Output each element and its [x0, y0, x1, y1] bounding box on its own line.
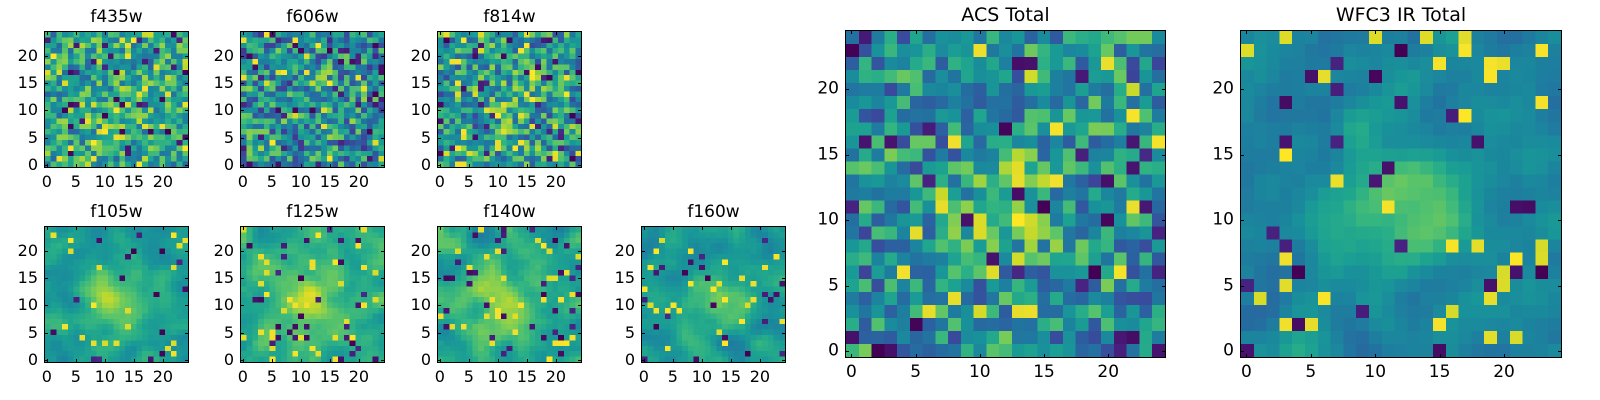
ytick-acs-total-20: [845, 89, 849, 90]
heatmap-canvas-f814w: [438, 32, 581, 167]
ytick-right-f435w-5: [185, 138, 189, 139]
xtick-top-f125w-0: [243, 226, 244, 230]
xtick-wfc3-ir-total-20: [1504, 354, 1505, 358]
yticklabel-f125w-15: 15: [190, 269, 234, 287]
xtick-top-f105w-10: [105, 226, 106, 230]
xtick-top-f140w-0: [440, 226, 441, 230]
xticklabel-f105w-5: 5: [71, 368, 81, 386]
yticklabel-f125w-0: 0: [190, 351, 234, 369]
ytick-right-f435w-0: [185, 165, 189, 166]
ytick-acs-total-5: [845, 286, 849, 287]
yticklabel-f435w-10: 10: [0, 101, 38, 119]
xtick-top-f814w-20: [556, 31, 557, 35]
xticklabel-f435w-20: 20: [153, 173, 173, 191]
panel-title-f814w: f814w: [437, 7, 582, 27]
panel-title-f435w: f435w: [44, 7, 189, 27]
heatmap-f140w: [437, 226, 582, 363]
yticklabel-f160w-15: 15: [591, 269, 635, 287]
yticklabel-acs-total-5: 5: [795, 276, 839, 295]
ytick-f435w-0: [44, 165, 48, 166]
yticklabel-f160w-0: 0: [591, 351, 635, 369]
ytick-f125w-0: [240, 360, 244, 361]
ytick-f160w-5: [641, 333, 645, 334]
xticklabel-f435w-15: 15: [124, 173, 144, 191]
xtick-top-acs-total-15: [1044, 30, 1045, 34]
xtick-f105w-20: [163, 359, 164, 363]
ytick-right-f814w-10: [578, 110, 582, 111]
yticklabel-f125w-5: 5: [190, 324, 234, 342]
xtick-top-wfc3-ir-total-5: [1311, 30, 1312, 34]
heatmap-canvas-f160w: [642, 227, 785, 362]
ytick-f814w-15: [437, 83, 441, 84]
ytick-f105w-5: [44, 333, 48, 334]
ytick-right-wfc3-ir-total-10: [1558, 220, 1562, 221]
ytick-right-f435w-10: [185, 110, 189, 111]
yticklabel-f140w-0: 0: [387, 351, 431, 369]
ytick-f105w-0: [44, 360, 48, 361]
xticklabel-f814w-20: 20: [546, 173, 566, 191]
xticklabel-f160w-20: 20: [750, 368, 770, 386]
ytick-f125w-15: [240, 278, 244, 279]
yticklabel-f606w-5: 5: [190, 129, 234, 147]
ytick-f160w-10: [641, 305, 645, 306]
ytick-right-f125w-20: [381, 251, 385, 252]
ytick-f160w-15: [641, 278, 645, 279]
yticklabel-f606w-10: 10: [190, 101, 234, 119]
xticklabel-f125w-10: 10: [291, 368, 311, 386]
xtick-acs-total-5: [916, 354, 917, 358]
xticklabel-f160w-15: 15: [721, 368, 741, 386]
ytick-right-f140w-20: [578, 251, 582, 252]
panel-f105w: f105w0510152005101520: [44, 226, 189, 363]
panel-title-f105w: f105w: [44, 202, 189, 222]
xticklabel-f140w-0: 0: [435, 368, 445, 386]
ytick-right-f140w-0: [578, 360, 582, 361]
ytick-acs-total-0: [845, 351, 849, 352]
xtick-f125w-15: [330, 359, 331, 363]
yticklabel-f814w-5: 5: [387, 129, 431, 147]
heatmap-f105w: [44, 226, 189, 363]
yticklabel-f435w-0: 0: [0, 156, 38, 174]
ytick-right-f140w-10: [578, 305, 582, 306]
ytick-right-f814w-20: [578, 56, 582, 57]
ytick-right-f606w-15: [381, 83, 385, 84]
xtick-f160w-15: [731, 359, 732, 363]
xticklabel-f814w-5: 5: [464, 173, 474, 191]
xtick-top-f160w-10: [702, 226, 703, 230]
yticklabel-f160w-5: 5: [591, 324, 635, 342]
xtick-f606w-5: [272, 164, 273, 168]
heatmap-canvas-acs-total: [846, 31, 1165, 357]
panel-title-f140w: f140w: [437, 202, 582, 222]
xticklabel-f606w-5: 5: [267, 173, 277, 191]
xtick-top-f160w-5: [673, 226, 674, 230]
xtick-top-f105w-15: [134, 226, 135, 230]
xtick-top-acs-total-10: [980, 30, 981, 34]
ytick-f814w-20: [437, 56, 441, 57]
panel-f435w: f435w0510152005101520: [44, 31, 189, 168]
yticklabel-f105w-5: 5: [0, 324, 38, 342]
xticklabel-f140w-10: 10: [488, 368, 508, 386]
yticklabel-acs-total-20: 20: [795, 80, 839, 99]
ytick-f606w-0: [240, 165, 244, 166]
ytick-f606w-20: [240, 56, 244, 57]
heatmap-canvas-f435w: [45, 32, 188, 167]
ytick-f125w-10: [240, 305, 244, 306]
xtick-acs-total-10: [980, 354, 981, 358]
ytick-acs-total-15: [845, 155, 849, 156]
xtick-f140w-20: [556, 359, 557, 363]
yticklabel-f140w-20: 20: [387, 242, 431, 260]
xtick-top-acs-total-5: [916, 30, 917, 34]
ytick-f435w-20: [44, 56, 48, 57]
xtick-top-f160w-15: [731, 226, 732, 230]
xtick-top-f814w-10: [498, 31, 499, 35]
ytick-right-f105w-20: [185, 251, 189, 252]
ytick-wfc3-ir-total-15: [1240, 155, 1244, 156]
xtick-f160w-20: [760, 359, 761, 363]
ytick-wfc3-ir-total-10: [1240, 220, 1244, 221]
xtick-f125w-20: [359, 359, 360, 363]
ytick-f606w-5: [240, 138, 244, 139]
ytick-f105w-20: [44, 251, 48, 252]
ytick-f140w-10: [437, 305, 441, 306]
xticklabel-f105w-10: 10: [95, 368, 115, 386]
xtick-f606w-20: [359, 164, 360, 168]
yticklabel-f814w-10: 10: [387, 101, 431, 119]
xtick-top-f435w-5: [76, 31, 77, 35]
yticklabel-wfc3-ir-total-15: 15: [1190, 145, 1234, 164]
xticklabel-f105w-20: 20: [153, 368, 173, 386]
ytick-right-f160w-5: [782, 333, 786, 334]
ytick-f814w-0: [437, 165, 441, 166]
xticklabel-f435w-5: 5: [71, 173, 81, 191]
xtick-top-f606w-15: [330, 31, 331, 35]
xtick-f814w-5: [469, 164, 470, 168]
xticklabel-acs-total-5: 5: [910, 363, 921, 382]
panel-wfc3-ir-total: WFC3 IR Total0510152005101520: [1240, 30, 1562, 358]
heatmap-canvas-wfc3-ir-total: [1241, 31, 1561, 357]
xticklabel-acs-total-15: 15: [1033, 363, 1055, 382]
xticklabel-f814w-0: 0: [435, 173, 445, 191]
panel-title-acs-total: ACS Total: [845, 4, 1166, 26]
figure-canvas: f435w0510152005101520f606w05101520051015…: [0, 0, 1600, 400]
ytick-right-f125w-5: [381, 333, 385, 334]
xticklabel-f814w-15: 15: [517, 173, 537, 191]
yticklabel-wfc3-ir-total-5: 5: [1190, 276, 1234, 295]
ytick-f606w-15: [240, 83, 244, 84]
yticklabel-f140w-10: 10: [387, 296, 431, 314]
xticklabel-f105w-0: 0: [42, 368, 52, 386]
yticklabel-f140w-15: 15: [387, 269, 431, 287]
panel-f140w: f140w0510152005101520: [437, 226, 582, 363]
ytick-right-f814w-5: [578, 138, 582, 139]
ytick-right-f125w-15: [381, 278, 385, 279]
xticklabel-f140w-20: 20: [546, 368, 566, 386]
xtick-top-f125w-15: [330, 226, 331, 230]
yticklabel-f814w-20: 20: [387, 47, 431, 65]
heatmap-canvas-f606w: [241, 32, 384, 167]
xtick-top-acs-total-20: [1108, 30, 1109, 34]
heatmap-canvas-f125w: [241, 227, 384, 362]
ytick-right-acs-total-20: [1162, 89, 1166, 90]
ytick-f435w-15: [44, 83, 48, 84]
ytick-right-f814w-15: [578, 83, 582, 84]
xtick-f814w-10: [498, 164, 499, 168]
xticklabel-wfc3-ir-total-20: 20: [1493, 363, 1515, 382]
yticklabel-f105w-15: 15: [0, 269, 38, 287]
xtick-top-wfc3-ir-total-0: [1246, 30, 1247, 34]
ytick-right-f140w-15: [578, 278, 582, 279]
xtick-top-f814w-5: [469, 31, 470, 35]
ytick-right-f606w-0: [381, 165, 385, 166]
xtick-f435w-15: [134, 164, 135, 168]
xtick-top-f140w-20: [556, 226, 557, 230]
xtick-top-f435w-10: [105, 31, 106, 35]
panel-f160w: f160w0510152005101520: [641, 226, 786, 363]
xticklabel-acs-total-20: 20: [1097, 363, 1119, 382]
ytick-right-f606w-10: [381, 110, 385, 111]
yticklabel-f105w-20: 20: [0, 242, 38, 260]
xtick-f105w-10: [105, 359, 106, 363]
xtick-top-f125w-20: [359, 226, 360, 230]
yticklabel-f606w-20: 20: [190, 47, 234, 65]
ytick-right-wfc3-ir-total-15: [1558, 155, 1562, 156]
ytick-f125w-5: [240, 333, 244, 334]
xtick-acs-total-0: [851, 354, 852, 358]
yticklabel-f814w-0: 0: [387, 156, 431, 174]
xtick-wfc3-ir-total-5: [1311, 354, 1312, 358]
xtick-wfc3-ir-total-0: [1246, 354, 1247, 358]
xtick-top-wfc3-ir-total-20: [1504, 30, 1505, 34]
xtick-f606w-10: [301, 164, 302, 168]
yticklabel-f606w-15: 15: [190, 74, 234, 92]
ytick-wfc3-ir-total-0: [1240, 351, 1244, 352]
xticklabel-f125w-15: 15: [320, 368, 340, 386]
yticklabel-f435w-5: 5: [0, 129, 38, 147]
ytick-right-f606w-20: [381, 56, 385, 57]
yticklabel-acs-total-0: 0: [795, 342, 839, 361]
yticklabel-f160w-10: 10: [591, 296, 635, 314]
heatmap-canvas-f105w: [45, 227, 188, 362]
yticklabel-f105w-0: 0: [0, 351, 38, 369]
xtick-f105w-15: [134, 359, 135, 363]
xtick-top-f814w-0: [440, 31, 441, 35]
heatmap-canvas-f140w: [438, 227, 581, 362]
xtick-top-f160w-20: [760, 226, 761, 230]
xtick-top-f105w-0: [47, 226, 48, 230]
xtick-top-wfc3-ir-total-10: [1375, 30, 1376, 34]
xtick-top-f606w-0: [243, 31, 244, 35]
ytick-right-f105w-15: [185, 278, 189, 279]
xtick-top-f140w-5: [469, 226, 470, 230]
xtick-top-f606w-10: [301, 31, 302, 35]
panel-f814w: f814w0510152005101520: [437, 31, 582, 168]
xtick-top-f606w-5: [272, 31, 273, 35]
xticklabel-f435w-0: 0: [42, 173, 52, 191]
ytick-f606w-10: [240, 110, 244, 111]
ytick-right-f105w-0: [185, 360, 189, 361]
ytick-f140w-0: [437, 360, 441, 361]
xtick-f435w-20: [163, 164, 164, 168]
xtick-f814w-15: [527, 164, 528, 168]
yticklabel-wfc3-ir-total-10: 10: [1190, 211, 1234, 230]
yticklabel-f435w-20: 20: [0, 47, 38, 65]
heatmap-f606w: [240, 31, 385, 168]
xticklabel-wfc3-ir-total-15: 15: [1429, 363, 1451, 382]
ytick-right-acs-total-10: [1162, 220, 1166, 221]
ytick-acs-total-10: [845, 220, 849, 221]
ytick-right-f606w-5: [381, 138, 385, 139]
ytick-f140w-20: [437, 251, 441, 252]
ytick-f814w-5: [437, 138, 441, 139]
xticklabel-f160w-0: 0: [639, 368, 649, 386]
ytick-f105w-10: [44, 305, 48, 306]
panel-title-f125w: f125w: [240, 202, 385, 222]
xtick-f125w-5: [272, 359, 273, 363]
ytick-f435w-5: [44, 138, 48, 139]
ytick-f140w-15: [437, 278, 441, 279]
panel-f606w: f606w0510152005101520: [240, 31, 385, 168]
yticklabel-f814w-15: 15: [387, 74, 431, 92]
ytick-right-f160w-10: [782, 305, 786, 306]
ytick-right-f435w-20: [185, 56, 189, 57]
xticklabel-f435w-10: 10: [95, 173, 115, 191]
ytick-f160w-0: [641, 360, 645, 361]
panel-f125w: f125w0510152005101520: [240, 226, 385, 363]
xtick-top-wfc3-ir-total-15: [1440, 30, 1441, 34]
ytick-f160w-20: [641, 251, 645, 252]
xtick-acs-total-15: [1044, 354, 1045, 358]
xtick-f435w-10: [105, 164, 106, 168]
ytick-right-f160w-0: [782, 360, 786, 361]
xticklabel-f814w-10: 10: [488, 173, 508, 191]
heatmap-wfc3-ir-total: [1240, 30, 1562, 358]
panel-title-wfc3-ir-total: WFC3 IR Total: [1240, 4, 1562, 26]
ytick-right-f105w-5: [185, 333, 189, 334]
xtick-top-f105w-5: [76, 226, 77, 230]
xticklabel-acs-total-10: 10: [969, 363, 991, 382]
xticklabel-f125w-20: 20: [349, 368, 369, 386]
ytick-right-f105w-10: [185, 305, 189, 306]
xtick-wfc3-ir-total-10: [1375, 354, 1376, 358]
xtick-top-f435w-20: [163, 31, 164, 35]
heatmap-f160w: [641, 226, 786, 363]
ytick-right-f814w-0: [578, 165, 582, 166]
yticklabel-wfc3-ir-total-0: 0: [1190, 342, 1234, 361]
xticklabel-f125w-0: 0: [238, 368, 248, 386]
ytick-right-wfc3-ir-total-5: [1558, 286, 1562, 287]
ytick-f435w-10: [44, 110, 48, 111]
ytick-right-wfc3-ir-total-20: [1558, 89, 1562, 90]
xtick-f160w-10: [702, 359, 703, 363]
yticklabel-f140w-5: 5: [387, 324, 431, 342]
ytick-right-f160w-15: [782, 278, 786, 279]
yticklabel-wfc3-ir-total-20: 20: [1190, 80, 1234, 99]
yticklabel-f125w-20: 20: [190, 242, 234, 260]
heatmap-f435w: [44, 31, 189, 168]
xticklabel-f125w-5: 5: [267, 368, 277, 386]
ytick-right-f125w-10: [381, 305, 385, 306]
xtick-top-acs-total-0: [851, 30, 852, 34]
xtick-f140w-10: [498, 359, 499, 363]
xticklabel-f160w-5: 5: [668, 368, 678, 386]
heatmap-f125w: [240, 226, 385, 363]
xticklabel-f140w-15: 15: [517, 368, 537, 386]
panel-title-f606w: f606w: [240, 7, 385, 27]
ytick-right-acs-total-15: [1162, 155, 1166, 156]
ytick-right-f435w-15: [185, 83, 189, 84]
ytick-right-wfc3-ir-total-0: [1558, 351, 1562, 352]
ytick-f140w-5: [437, 333, 441, 334]
xticklabel-wfc3-ir-total-5: 5: [1305, 363, 1316, 382]
xtick-f606w-15: [330, 164, 331, 168]
xtick-f435w-5: [76, 164, 77, 168]
ytick-f105w-15: [44, 278, 48, 279]
xtick-wfc3-ir-total-15: [1440, 354, 1441, 358]
ytick-right-f160w-20: [782, 251, 786, 252]
xtick-top-f125w-5: [272, 226, 273, 230]
xtick-top-f160w-0: [644, 226, 645, 230]
xtick-top-f125w-10: [301, 226, 302, 230]
panel-acs-total: ACS Total0510152005101520: [845, 30, 1166, 358]
yticklabel-f105w-10: 10: [0, 296, 38, 314]
xtick-top-f435w-15: [134, 31, 135, 35]
yticklabel-f125w-10: 10: [190, 296, 234, 314]
xtick-acs-total-20: [1108, 354, 1109, 358]
xtick-top-f435w-0: [47, 31, 48, 35]
xticklabel-f606w-10: 10: [291, 173, 311, 191]
xticklabel-wfc3-ir-total-0: 0: [1241, 363, 1252, 382]
xtick-f125w-10: [301, 359, 302, 363]
yticklabel-f606w-0: 0: [190, 156, 234, 174]
xtick-f814w-20: [556, 164, 557, 168]
yticklabel-acs-total-15: 15: [795, 145, 839, 164]
xtick-f160w-5: [673, 359, 674, 363]
xtick-top-f140w-10: [498, 226, 499, 230]
heatmap-acs-total: [845, 30, 1166, 358]
xtick-top-f814w-15: [527, 31, 528, 35]
ytick-right-f140w-5: [578, 333, 582, 334]
yticklabel-f435w-15: 15: [0, 74, 38, 92]
xticklabel-wfc3-ir-total-10: 10: [1364, 363, 1386, 382]
ytick-right-acs-total-5: [1162, 286, 1166, 287]
xticklabel-acs-total-0: 0: [846, 363, 857, 382]
xtick-f105w-5: [76, 359, 77, 363]
yticklabel-acs-total-10: 10: [795, 211, 839, 230]
xtick-top-f140w-15: [527, 226, 528, 230]
xticklabel-f606w-0: 0: [238, 173, 248, 191]
xticklabel-f606w-20: 20: [349, 173, 369, 191]
xticklabel-f105w-15: 15: [124, 368, 144, 386]
ytick-f814w-10: [437, 110, 441, 111]
yticklabel-f160w-20: 20: [591, 242, 635, 260]
ytick-wfc3-ir-total-5: [1240, 286, 1244, 287]
xticklabel-f140w-5: 5: [464, 368, 474, 386]
ytick-f125w-20: [240, 251, 244, 252]
ytick-right-acs-total-0: [1162, 351, 1166, 352]
xtick-top-f105w-20: [163, 226, 164, 230]
xticklabel-f160w-10: 10: [692, 368, 712, 386]
ytick-wfc3-ir-total-20: [1240, 89, 1244, 90]
xtick-f140w-5: [469, 359, 470, 363]
xticklabel-f606w-15: 15: [320, 173, 340, 191]
panel-title-f160w: f160w: [641, 202, 786, 222]
heatmap-f814w: [437, 31, 582, 168]
xtick-top-f606w-20: [359, 31, 360, 35]
xtick-f140w-15: [527, 359, 528, 363]
ytick-right-f125w-0: [381, 360, 385, 361]
